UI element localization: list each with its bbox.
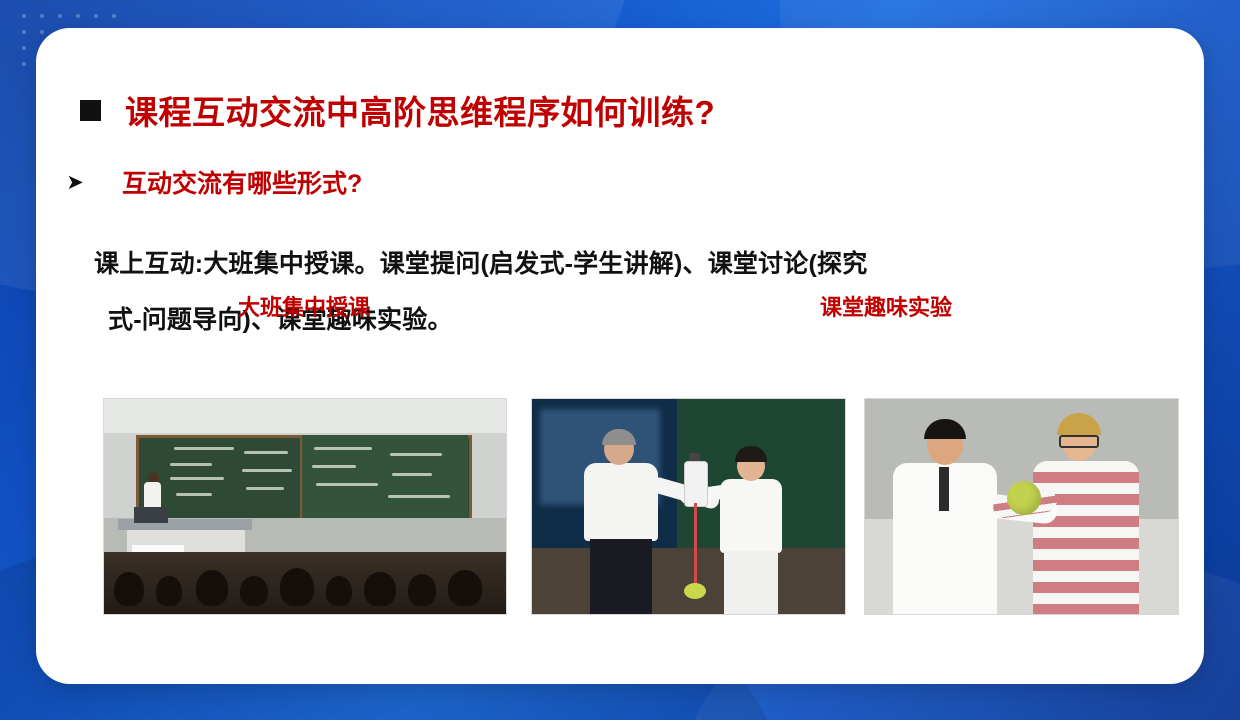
lecture-hall-photo: [103, 398, 507, 615]
caption-lecture: 大班集中授课: [103, 290, 505, 322]
photo1-chalk-mark: [390, 453, 442, 456]
photo1-chalk-mark: [246, 487, 284, 490]
caption-experiment: 课堂趣味实验: [696, 290, 1076, 322]
photo1-chalk-mark: [242, 469, 292, 472]
photo2-ball: [684, 583, 706, 599]
photo1-chalk-mark: [244, 451, 288, 454]
photo1-chalk-mark: [314, 447, 372, 450]
photo2-floor: [532, 548, 845, 614]
photo1-student-head: [326, 576, 352, 606]
photo3-student-glasses: [1059, 435, 1099, 448]
photo1-student-head: [156, 576, 182, 606]
photo2-student-pants: [724, 551, 778, 614]
photo-gallery: [36, 398, 1204, 648]
photo1-student-head: [448, 570, 482, 606]
photo1-student-head: [114, 572, 144, 606]
photo1-chalk-mark: [312, 465, 356, 468]
photo3-student-shirt: [1033, 461, 1139, 614]
photo1-chalk-mark: [170, 463, 212, 466]
photo2-student-shirt: [720, 479, 782, 553]
classroom-demo-photo: [531, 398, 846, 615]
photo1-student-head: [364, 572, 396, 606]
slide-title: 课程互动交流中高阶思维程序如何训练?: [80, 86, 715, 134]
photo3-teacher-tie: [939, 467, 949, 511]
photo3-green-ball: [1007, 481, 1041, 515]
slide-subtitle: ➤ 互动交流有哪些形式?: [62, 164, 362, 200]
photo1-chalk-mark: [174, 447, 234, 450]
photo1-student-head: [280, 568, 314, 606]
square-bullet-icon: [80, 100, 101, 121]
photo2-handheld-device: [684, 461, 708, 507]
photo2-cord: [694, 503, 697, 589]
photo1-chalk-mark: [316, 483, 378, 486]
slide-title-text: 课程互动交流中高阶思维程序如何训练?: [125, 86, 715, 134]
photo1-chalk-mark: [392, 473, 432, 476]
photo2-teacher-shirt: [584, 463, 658, 541]
photo1-chalk-mark: [388, 495, 450, 498]
photo1-ceiling: [104, 399, 506, 433]
photo2-teacher-pants: [590, 539, 652, 614]
slide-root: 课程互动交流中高阶思维程序如何训练? ➤ 互动交流有哪些形式? 课上互动:大班集…: [0, 0, 1240, 720]
photo1-student-head: [408, 574, 436, 606]
photo1-chalk-mark: [176, 493, 212, 496]
photo1-monitor: [134, 507, 168, 523]
content-card: 课程互动交流中高阶思维程序如何训练? ➤ 互动交流有哪些形式? 课上互动:大班集…: [36, 28, 1204, 684]
body-line-1: 课上互动:大班集中授课。课堂提问(启发式-学生讲解)、课堂讨论(探究: [94, 250, 867, 278]
photo1-student-head: [196, 570, 228, 606]
photo1-chalk-mark: [170, 477, 224, 480]
fun-experiment-photo: [864, 398, 1179, 615]
photo1-student-head: [240, 576, 268, 606]
arrow-right-icon: ➤: [62, 172, 88, 193]
slide-subtitle-text: 互动交流有哪些形式?: [122, 164, 362, 200]
